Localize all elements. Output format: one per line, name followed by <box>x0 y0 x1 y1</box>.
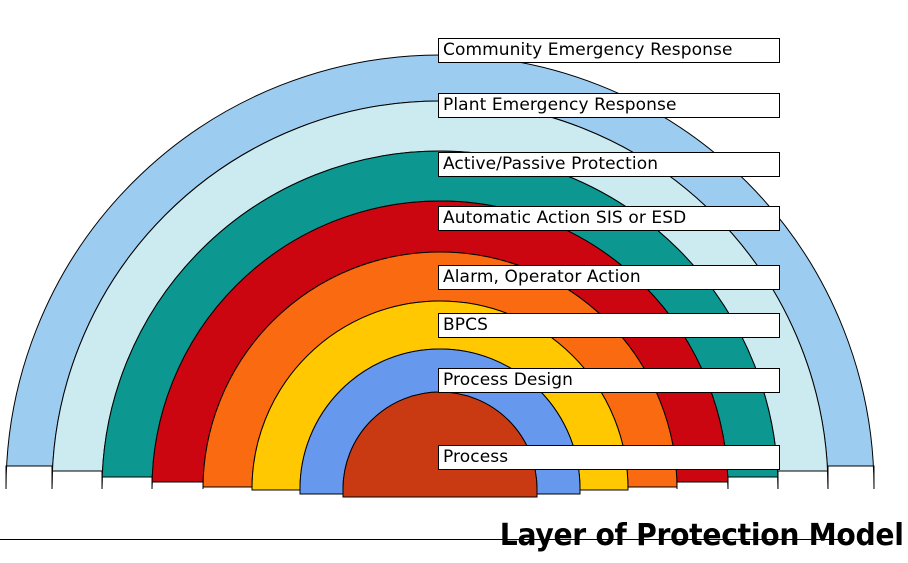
layer-of-protection-diagram: Community Emergency ResponsePlant Emerge… <box>0 0 908 563</box>
layer-label-box-3: Active/Passive Protection <box>438 152 780 177</box>
layer-label-box-4: Automatic Action SIS or ESD <box>438 206 780 231</box>
layer-label-text-7: Process Design <box>443 372 573 389</box>
layer-label-text-6: BPCS <box>443 317 488 334</box>
layer-label-box-5: Alarm, Operator Action <box>438 265 780 290</box>
layer-label-text-4: Automatic Action SIS or ESD <box>443 210 686 227</box>
layer-label-box-1: Community Emergency Response <box>438 38 780 63</box>
layer-label-text-2: Plant Emergency Response <box>443 97 677 114</box>
layer-label-text-3: Active/Passive Protection <box>443 156 658 173</box>
layer-label-box-6: BPCS <box>438 313 780 338</box>
layer-label-text-1: Community Emergency Response <box>443 42 733 59</box>
page-title: Layer of Protection Model <box>500 518 904 553</box>
layer-label-box-2: Plant Emergency Response <box>438 93 780 118</box>
layer-label-text-8: Process <box>443 449 508 466</box>
layer-label-text-5: Alarm, Operator Action <box>443 269 641 286</box>
layer-label-box-7: Process Design <box>438 368 780 393</box>
layer-label-box-8: Process <box>438 445 780 470</box>
